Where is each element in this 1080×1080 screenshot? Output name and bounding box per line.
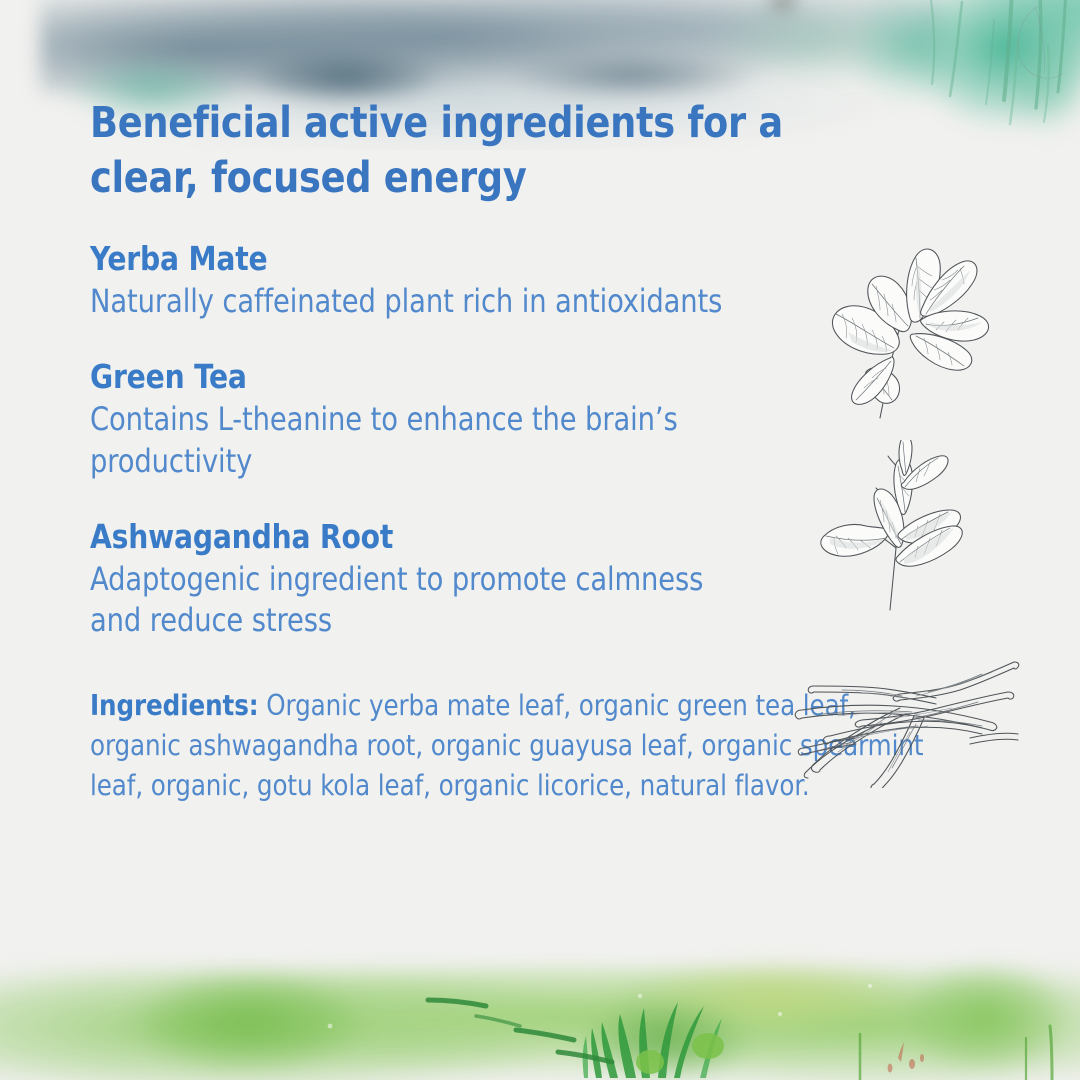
ingredient-block-green-tea: Green Tea Contains L-theanine to enhance… [90, 357, 970, 482]
ingredient-block-yerba-mate: Yerba Mate Naturally caffeinated plant r… [90, 239, 970, 323]
ingredient-title: Yerba Mate [90, 239, 926, 279]
watercolor-yellow-green [620, 960, 960, 1040]
watercolor-green-dark [560, 988, 780, 1080]
bottom-watercolor-border [0, 930, 1080, 1080]
poster-canvas: Beneficial active ingredients for a clea… [0, 0, 1080, 1080]
grass-strokes [0, 930, 1080, 1080]
ingredients-label: Ingredients: [90, 689, 259, 722]
watercolor-leaf-right [880, 956, 1080, 1080]
watercolor-green-pale [700, 0, 960, 90]
ingredient-title: Ashwagandha Root [90, 517, 926, 557]
ingredient-description: Adaptogenic ingredient to promote calmne… [90, 559, 746, 642]
ingredient-title: Green Tea [90, 357, 926, 397]
watercolor-jade-3 [1000, 30, 1080, 150]
ingredients-paragraph: Ingredients: Organic yerba mate leaf, or… [90, 686, 925, 807]
ingredient-description: Naturally caffeinated plant rich in anti… [90, 281, 746, 323]
page-title: Beneficial active ingredients for a clea… [90, 96, 841, 205]
watercolor-green-base [0, 968, 1080, 1080]
ingredient-block-ashwagandha-root: Ashwagandha Root Adaptogenic ingredient … [90, 517, 970, 642]
ingredient-description: Contains L-theanine to enhance the brain… [90, 399, 746, 482]
watercolor-ink-speck [760, 0, 806, 16]
ingredient-block-list: Yerba Mate Naturally caffeinated plant r… [90, 239, 970, 642]
content-column: Beneficial active ingredients for a clea… [90, 96, 970, 806]
watercolor-leaf-left [110, 964, 410, 1080]
watercolor-slate-band [40, 0, 940, 94]
